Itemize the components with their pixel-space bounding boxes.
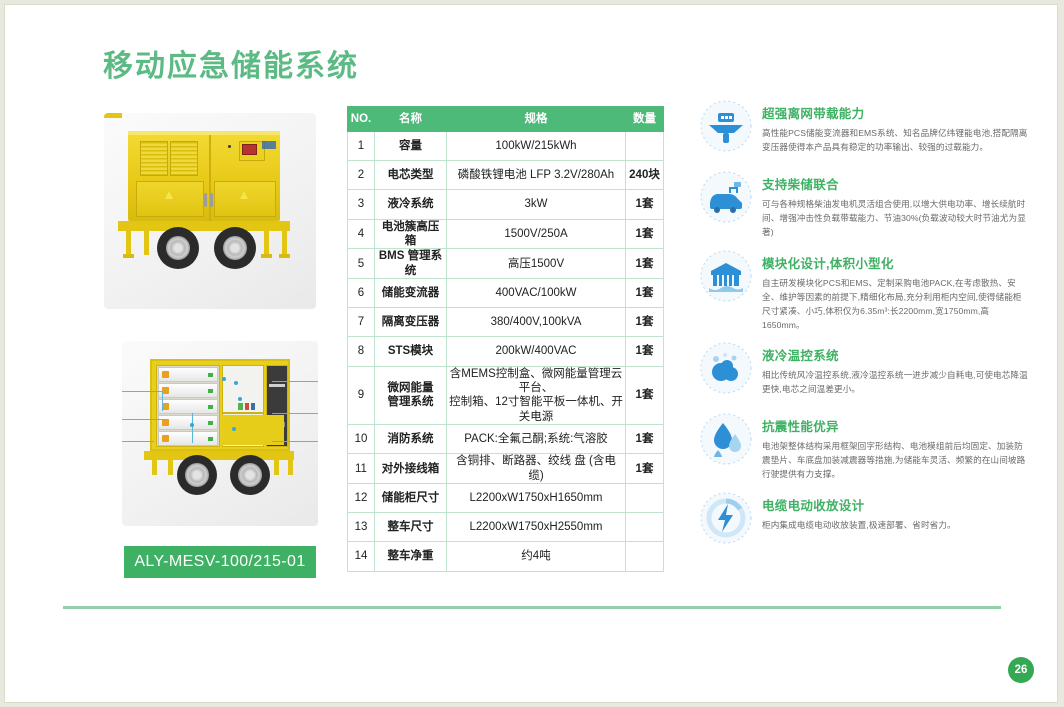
cell-spec: 高压1500V xyxy=(447,249,626,279)
leg-foot xyxy=(261,254,272,258)
support-leg xyxy=(288,453,293,475)
battery-module xyxy=(158,367,218,382)
callout-line xyxy=(122,419,166,420)
callout-dot xyxy=(232,427,236,431)
support-leg xyxy=(274,453,279,475)
emergency-stop-button xyxy=(242,144,257,155)
enclosure-roof xyxy=(128,131,280,135)
cell-quantity: 1套 xyxy=(626,249,664,279)
feature-description: 相比传统风冷温控系统,液冷温控系统一进步减少自耗电,可使电芯降温更快,电芯之间温… xyxy=(762,369,1029,397)
table-row: 5BMS 管理系统高压1500V1套 xyxy=(348,249,664,279)
cell-no: 9 xyxy=(348,366,375,425)
support-leg xyxy=(282,231,287,255)
table-row: 2电芯类型磷酸铁锂电池 LFP 3.2V/280Ah240块 xyxy=(348,161,664,190)
table-row: 8STS模块200kW/400VAC1套 xyxy=(348,337,664,366)
trailer-tongue xyxy=(104,113,122,118)
callout-dot xyxy=(234,381,238,385)
cell-no: 7 xyxy=(348,308,375,337)
battery-module xyxy=(158,431,218,446)
cell-name: 整车净重 xyxy=(375,542,447,571)
callout-line xyxy=(272,441,318,442)
table-row: 3液冷系统3kW1套 xyxy=(348,190,664,219)
callout-dot xyxy=(222,377,226,381)
door-handle-left xyxy=(204,193,207,207)
cell-spec: 磷酸铁锂电池 LFP 3.2V/280Ah xyxy=(447,161,626,190)
feature-item: 抗震性能优异电池架整体结构采用框架回字形结构、电池模组前后均固定、加装防震垫片、… xyxy=(699,412,1029,482)
support-leg xyxy=(126,231,131,255)
cell-quantity xyxy=(626,484,664,513)
feature-item: 液冷温控系统相比传统风冷温控系统,液冷温控系统一进步减少自耗电,可使电芯降温更快… xyxy=(699,341,1029,403)
cell-spec: 380/400V,100kVA xyxy=(447,308,626,337)
cell-name: 消防系统 xyxy=(375,425,447,454)
cell-name: 储能柜尺寸 xyxy=(375,484,447,513)
battery-module xyxy=(158,399,218,414)
wheel-rim xyxy=(238,463,262,487)
electric-car-charging-icon xyxy=(699,170,753,224)
cell-spec: 400VAC/100kW xyxy=(447,279,626,308)
cell-no: 13 xyxy=(348,513,375,542)
feature-body: 电缆电动收放设计柜内集成电缆电动收放装置,极速部署、省时省力。 xyxy=(762,491,1029,533)
cell-no: 1 xyxy=(348,132,375,161)
cell-quantity xyxy=(626,542,664,571)
cell-spec: 含铜排、断路器、绞线 盘 (含电缆) xyxy=(447,454,626,484)
table-row: 13整车尺寸L2200xW1750xH2550mm xyxy=(348,513,664,542)
support-leg xyxy=(152,453,157,475)
feature-body: 支持柴储联合可与各种规格柴油发电机灵活组合使用,以增大供电功率、增长续航时间、增… xyxy=(762,170,1029,240)
access-door-right xyxy=(214,181,276,217)
callout-line xyxy=(272,381,318,382)
footer-divider xyxy=(63,606,1001,609)
cell-no: 14 xyxy=(348,542,375,571)
table-row: 1容量100kW/215kWh xyxy=(348,132,664,161)
cell-name: 电芯类型 xyxy=(375,161,447,190)
cell-quantity: 1套 xyxy=(626,425,664,454)
callout-dot xyxy=(238,397,242,401)
specification-table: NO. 名称 规格 数量 1容量100kW/215kWh2电芯类型磷酸铁锂电池 … xyxy=(347,106,664,572)
cell-no: 6 xyxy=(348,279,375,308)
cell-no: 12 xyxy=(348,484,375,513)
cell-name: STS模块 xyxy=(375,337,447,366)
cell-spec: PACK:全氟己酮;系统:气溶胶 xyxy=(447,425,626,454)
callout-line xyxy=(122,441,154,442)
column-header-qty: 数量 xyxy=(626,107,664,132)
table-row: 7隔离变压器380/400V,100kVA1套 xyxy=(348,308,664,337)
battery-grid-icon xyxy=(699,99,753,153)
cell-name: 容量 xyxy=(375,132,447,161)
cell-name: 电池簇高压箱 xyxy=(375,219,447,249)
door-handle-right xyxy=(210,193,213,207)
column-header-no: NO. xyxy=(348,107,375,132)
slide-canvas: 移动应急储能系统 xyxy=(4,4,1058,703)
trailer-chassis xyxy=(118,221,290,231)
cell-spec: 1500V/250A xyxy=(447,219,626,249)
feature-title: 超强离网带载能力 xyxy=(762,103,1029,122)
control-panel-bay xyxy=(222,365,264,413)
cell-no: 2 xyxy=(348,161,375,190)
feature-description: 可与各种规格柴油发电机灵活组合使用,以增大供电功率、增长续航时间、增强冲击性负载… xyxy=(762,198,1029,240)
table-row: 4电池簇高压箱1500V/250A1套 xyxy=(348,219,664,249)
callout-line xyxy=(192,413,193,443)
cell-no: 3 xyxy=(348,190,375,219)
feature-title: 支持柴储联合 xyxy=(762,174,1029,193)
battery-module xyxy=(158,415,218,430)
feature-title: 模块化设计,体积小型化 xyxy=(762,253,1029,272)
cell-spec: 约4吨 xyxy=(447,542,626,571)
feature-title: 抗震性能优异 xyxy=(762,416,1029,435)
cell-quantity: 1套 xyxy=(626,279,664,308)
open-cabinet-photo xyxy=(122,341,318,526)
table-header-row: NO. 名称 规格 数量 xyxy=(348,107,664,132)
support-leg xyxy=(168,453,173,475)
cell-quantity xyxy=(626,132,664,161)
louver-vent-right xyxy=(170,141,198,176)
cell-spec: L2200xW1750xH2550mm xyxy=(447,513,626,542)
cell-quantity xyxy=(626,513,664,542)
table-row: 12储能柜尺寸L2200xW1750xH1650mm xyxy=(348,484,664,513)
table-row: 6储能变流器400VAC/100kW1套 xyxy=(348,279,664,308)
table-row: 14整车净重约4吨 xyxy=(348,542,664,571)
hazard-triangle-icon-right xyxy=(240,191,248,199)
liquid-cooling-cloud-icon xyxy=(699,341,753,395)
page-number-badge: 26 xyxy=(1008,657,1034,683)
feature-description: 自主研发模块化PCS和EMS、定制采购电池PACK,在考虑散热、安全、维护等因素… xyxy=(762,277,1029,333)
cell-quantity: 1套 xyxy=(626,308,664,337)
cell-spec: L2200xW1750xH1650mm xyxy=(447,484,626,513)
wheel-rim xyxy=(185,463,209,487)
table-row: 10消防系统PACK:全氟己酮;系统:气溶胶1套 xyxy=(348,425,664,454)
breaker-switch xyxy=(251,403,255,410)
leg-foot xyxy=(123,254,134,258)
callout-dot xyxy=(190,423,194,427)
cell-spec: 200kW/400VAC xyxy=(447,337,626,366)
cell-no: 11 xyxy=(348,454,375,484)
water-drop-leaf-icon xyxy=(699,412,753,466)
feature-item: 支持柴储联合可与各种规格柴油发电机灵活组合使用,以增大供电功率、增长续航时间、增… xyxy=(699,170,1029,240)
column-header-name: 名称 xyxy=(375,107,447,132)
table-row: 11对外接线箱含铜排、断路器、绞线 盘 (含电缆)1套 xyxy=(348,454,664,484)
cell-spec: 3kW xyxy=(447,190,626,219)
cell-name: 整车尺寸 xyxy=(375,513,447,542)
cell-name: BMS 管理系统 xyxy=(375,249,447,279)
feature-description: 高性能PCS储能变流器和EMS系统、知名品牌亿纬锂能电池,搭配隔离变压器使得本产… xyxy=(762,127,1029,155)
feature-body: 超强离网带载能力高性能PCS储能变流器和EMS系统、知名品牌亿纬锂能电池,搭配隔… xyxy=(762,99,1029,155)
support-leg xyxy=(264,231,269,255)
model-number-badge: ALY-MESV-100/215-01 xyxy=(124,546,316,578)
callout-line xyxy=(122,391,162,392)
cell-quantity: 1套 xyxy=(626,366,664,425)
feature-title: 液冷温控系统 xyxy=(762,345,1029,364)
brand-logo xyxy=(262,141,276,149)
cell-spec: 100kW/215kWh xyxy=(447,132,626,161)
cell-name: 微网能量管理系统 xyxy=(375,366,447,425)
feature-title: 电缆电动收放设计 xyxy=(762,495,1029,514)
access-door-left xyxy=(136,181,204,217)
cell-no: 10 xyxy=(348,425,375,454)
feature-description: 柜内集成电缆电动收放装置,极速部署、省时省力。 xyxy=(762,519,1029,533)
cell-name: 隔离变压器 xyxy=(375,308,447,337)
callout-line xyxy=(162,391,163,411)
feature-body: 液冷温控系统相比传统风冷温控系统,液冷温控系统一进步减少自耗电,可使电芯降温更快… xyxy=(762,341,1029,397)
cell-quantity: 1套 xyxy=(626,337,664,366)
cell-quantity: 1套 xyxy=(626,190,664,219)
leg-foot xyxy=(279,254,290,258)
feature-item: 模块化设计,体积小型化自主研发模块化PCS和EMS、定制采购电池PACK,在考虑… xyxy=(699,249,1029,333)
breaker-switch xyxy=(245,403,249,410)
cell-no: 5 xyxy=(348,249,375,279)
enclosure-seam xyxy=(209,135,211,221)
wheel-rim xyxy=(166,236,190,260)
support-leg xyxy=(144,231,149,255)
page-title: 移动应急储能系统 xyxy=(103,41,359,85)
feature-body: 抗震性能优异电池架整体结构采用框架回字形结构、电池模组前后均固定、加装防震垫片、… xyxy=(762,412,1029,482)
breaker-switch xyxy=(238,403,243,410)
indicator-light xyxy=(228,145,231,148)
column-header-spec: 规格 xyxy=(447,107,626,132)
cell-quantity: 1套 xyxy=(626,454,664,484)
cell-name: 储能变流器 xyxy=(375,279,447,308)
hazard-triangle-icon-left xyxy=(165,191,173,199)
battery-module xyxy=(158,383,218,398)
feature-item: 超强离网带载能力高性能PCS储能变流器和EMS系统、知名品牌亿纬锂能电池,搭配隔… xyxy=(699,99,1029,161)
table-row: 9微网能量管理系统含MEMS控制盒、微网能量管理云平台、控制箱、12寸智能平板一… xyxy=(348,366,664,425)
cell-spec: 含MEMS控制盒、微网能量管理云平台、控制箱、12寸智能平板一体机、开关电源 xyxy=(447,366,626,425)
cell-no: 8 xyxy=(348,337,375,366)
modular-cabinet-icon xyxy=(699,249,753,303)
louver-vent-left xyxy=(140,141,168,176)
feature-body: 模块化设计,体积小型化自主研发模块化PCS和EMS、定制采购电池PACK,在考虑… xyxy=(762,249,1029,333)
cell-name: 液冷系统 xyxy=(375,190,447,219)
cell-quantity: 1套 xyxy=(626,219,664,249)
wheel-rim xyxy=(223,236,247,260)
feature-item: 电缆电动收放设计柜内集成电缆电动收放装置,极速部署、省时省力。 xyxy=(699,491,1029,553)
cable-reel-lightning-icon xyxy=(699,491,753,545)
callout-line xyxy=(272,413,318,414)
feature-list: 超强离网带载能力高性能PCS储能变流器和EMS系统、知名品牌亿纬锂能电池,搭配隔… xyxy=(699,99,1029,562)
closed-trailer-photo xyxy=(104,113,316,309)
cell-quantity: 240块 xyxy=(626,161,664,190)
cell-name: 对外接线箱 xyxy=(375,454,447,484)
feature-description: 电池架整体结构采用框架回字形结构、电池模组前后均固定、加装防震垫片、车底盘加装减… xyxy=(762,440,1029,482)
cell-no: 4 xyxy=(348,219,375,249)
trailer-chassis xyxy=(144,451,294,460)
